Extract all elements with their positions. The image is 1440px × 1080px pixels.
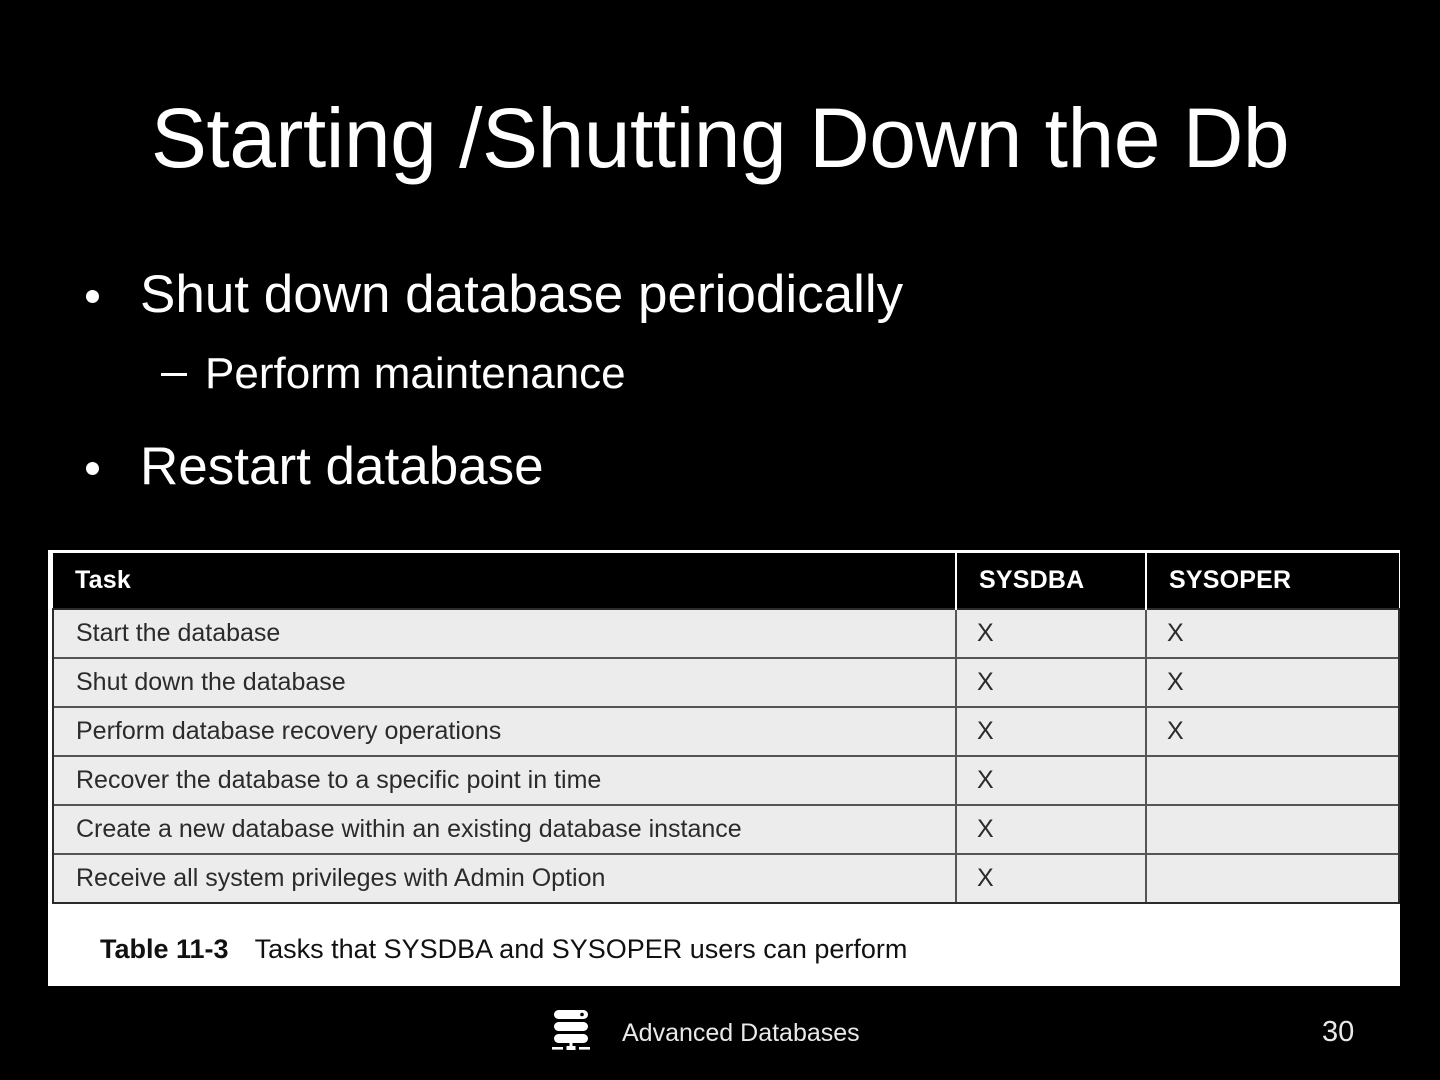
cell-sysoper: X [1146, 609, 1399, 658]
server-rack-icon [551, 1008, 591, 1053]
table-figure: Task SYSDBA SYSOPER Start the database X… [48, 550, 1400, 986]
cell-sysdba: X [956, 707, 1146, 756]
bullet-item-shut-down: Shut down database periodically [0, 264, 1340, 326]
cell-sysdba: X [956, 805, 1146, 854]
table-row: Start the database X X [53, 609, 1399, 658]
cell-task: Receive all system privileges with Admin… [53, 854, 956, 903]
cell-sysdba: X [956, 756, 1146, 805]
cell-sysoper [1146, 756, 1399, 805]
table-row: Create a new database within an existing… [53, 805, 1399, 854]
table-header-row: Task SYSDBA SYSOPER [53, 553, 1399, 609]
table-caption-text: Tasks that SYSDBA and SYSOPER users can … [255, 934, 908, 964]
en-dash-icon [161, 373, 187, 376]
cell-task: Create a new database within an existing… [53, 805, 956, 854]
sub-bullet-item-maintenance: Perform maintenance [0, 348, 1340, 400]
bullet-dot-icon [86, 290, 99, 303]
bullet-item-label: Restart database [140, 437, 544, 496]
cell-task: Recover the database to a specific point… [53, 756, 956, 805]
cell-sysoper: X [1146, 658, 1399, 707]
cell-task: Start the database [53, 609, 956, 658]
slide: Starting /Shutting Down the Db Shut down… [0, 0, 1440, 1080]
cell-sysoper [1146, 854, 1399, 903]
bullet-dot-icon [86, 462, 99, 475]
column-header-sysdba: SYSDBA [956, 553, 1146, 609]
column-header-task: Task [53, 553, 956, 609]
cell-task: Shut down the database [53, 658, 956, 707]
cell-sysoper: X [1146, 707, 1399, 756]
page-number: 30 [1322, 1015, 1354, 1049]
cell-sysoper [1146, 805, 1399, 854]
privileges-table: Task SYSDBA SYSOPER Start the database X… [52, 553, 1400, 904]
cell-sysdba: X [956, 854, 1146, 903]
column-header-sysoper: SYSOPER [1146, 553, 1399, 609]
page-title: Starting /Shutting Down the Db [0, 86, 1440, 190]
cell-task: Perform database recovery operations [53, 707, 956, 756]
table-caption: Table 11-3Tasks that SYSDBA and SYSOPER … [100, 934, 907, 965]
cell-sysdba: X [956, 658, 1146, 707]
bullet-list: Shut down database periodically Perform … [0, 264, 1340, 498]
footer-title: Advanced Databases [622, 1018, 860, 1048]
table-row: Shut down the database X X [53, 658, 1399, 707]
bullet-item-label: Shut down database periodically [140, 265, 903, 324]
sub-bullet-item-label: Perform maintenance [205, 349, 626, 398]
cell-sysdba: X [956, 609, 1146, 658]
spacer [0, 400, 1340, 436]
table-row: Recover the database to a specific point… [53, 756, 1399, 805]
bullet-item-restart: Restart database [0, 436, 1340, 498]
table-caption-label: Table 11-3 [100, 934, 229, 964]
table-row: Receive all system privileges with Admin… [53, 854, 1399, 903]
spacer [0, 326, 1340, 348]
table-row: Perform database recovery operations X X [53, 707, 1399, 756]
